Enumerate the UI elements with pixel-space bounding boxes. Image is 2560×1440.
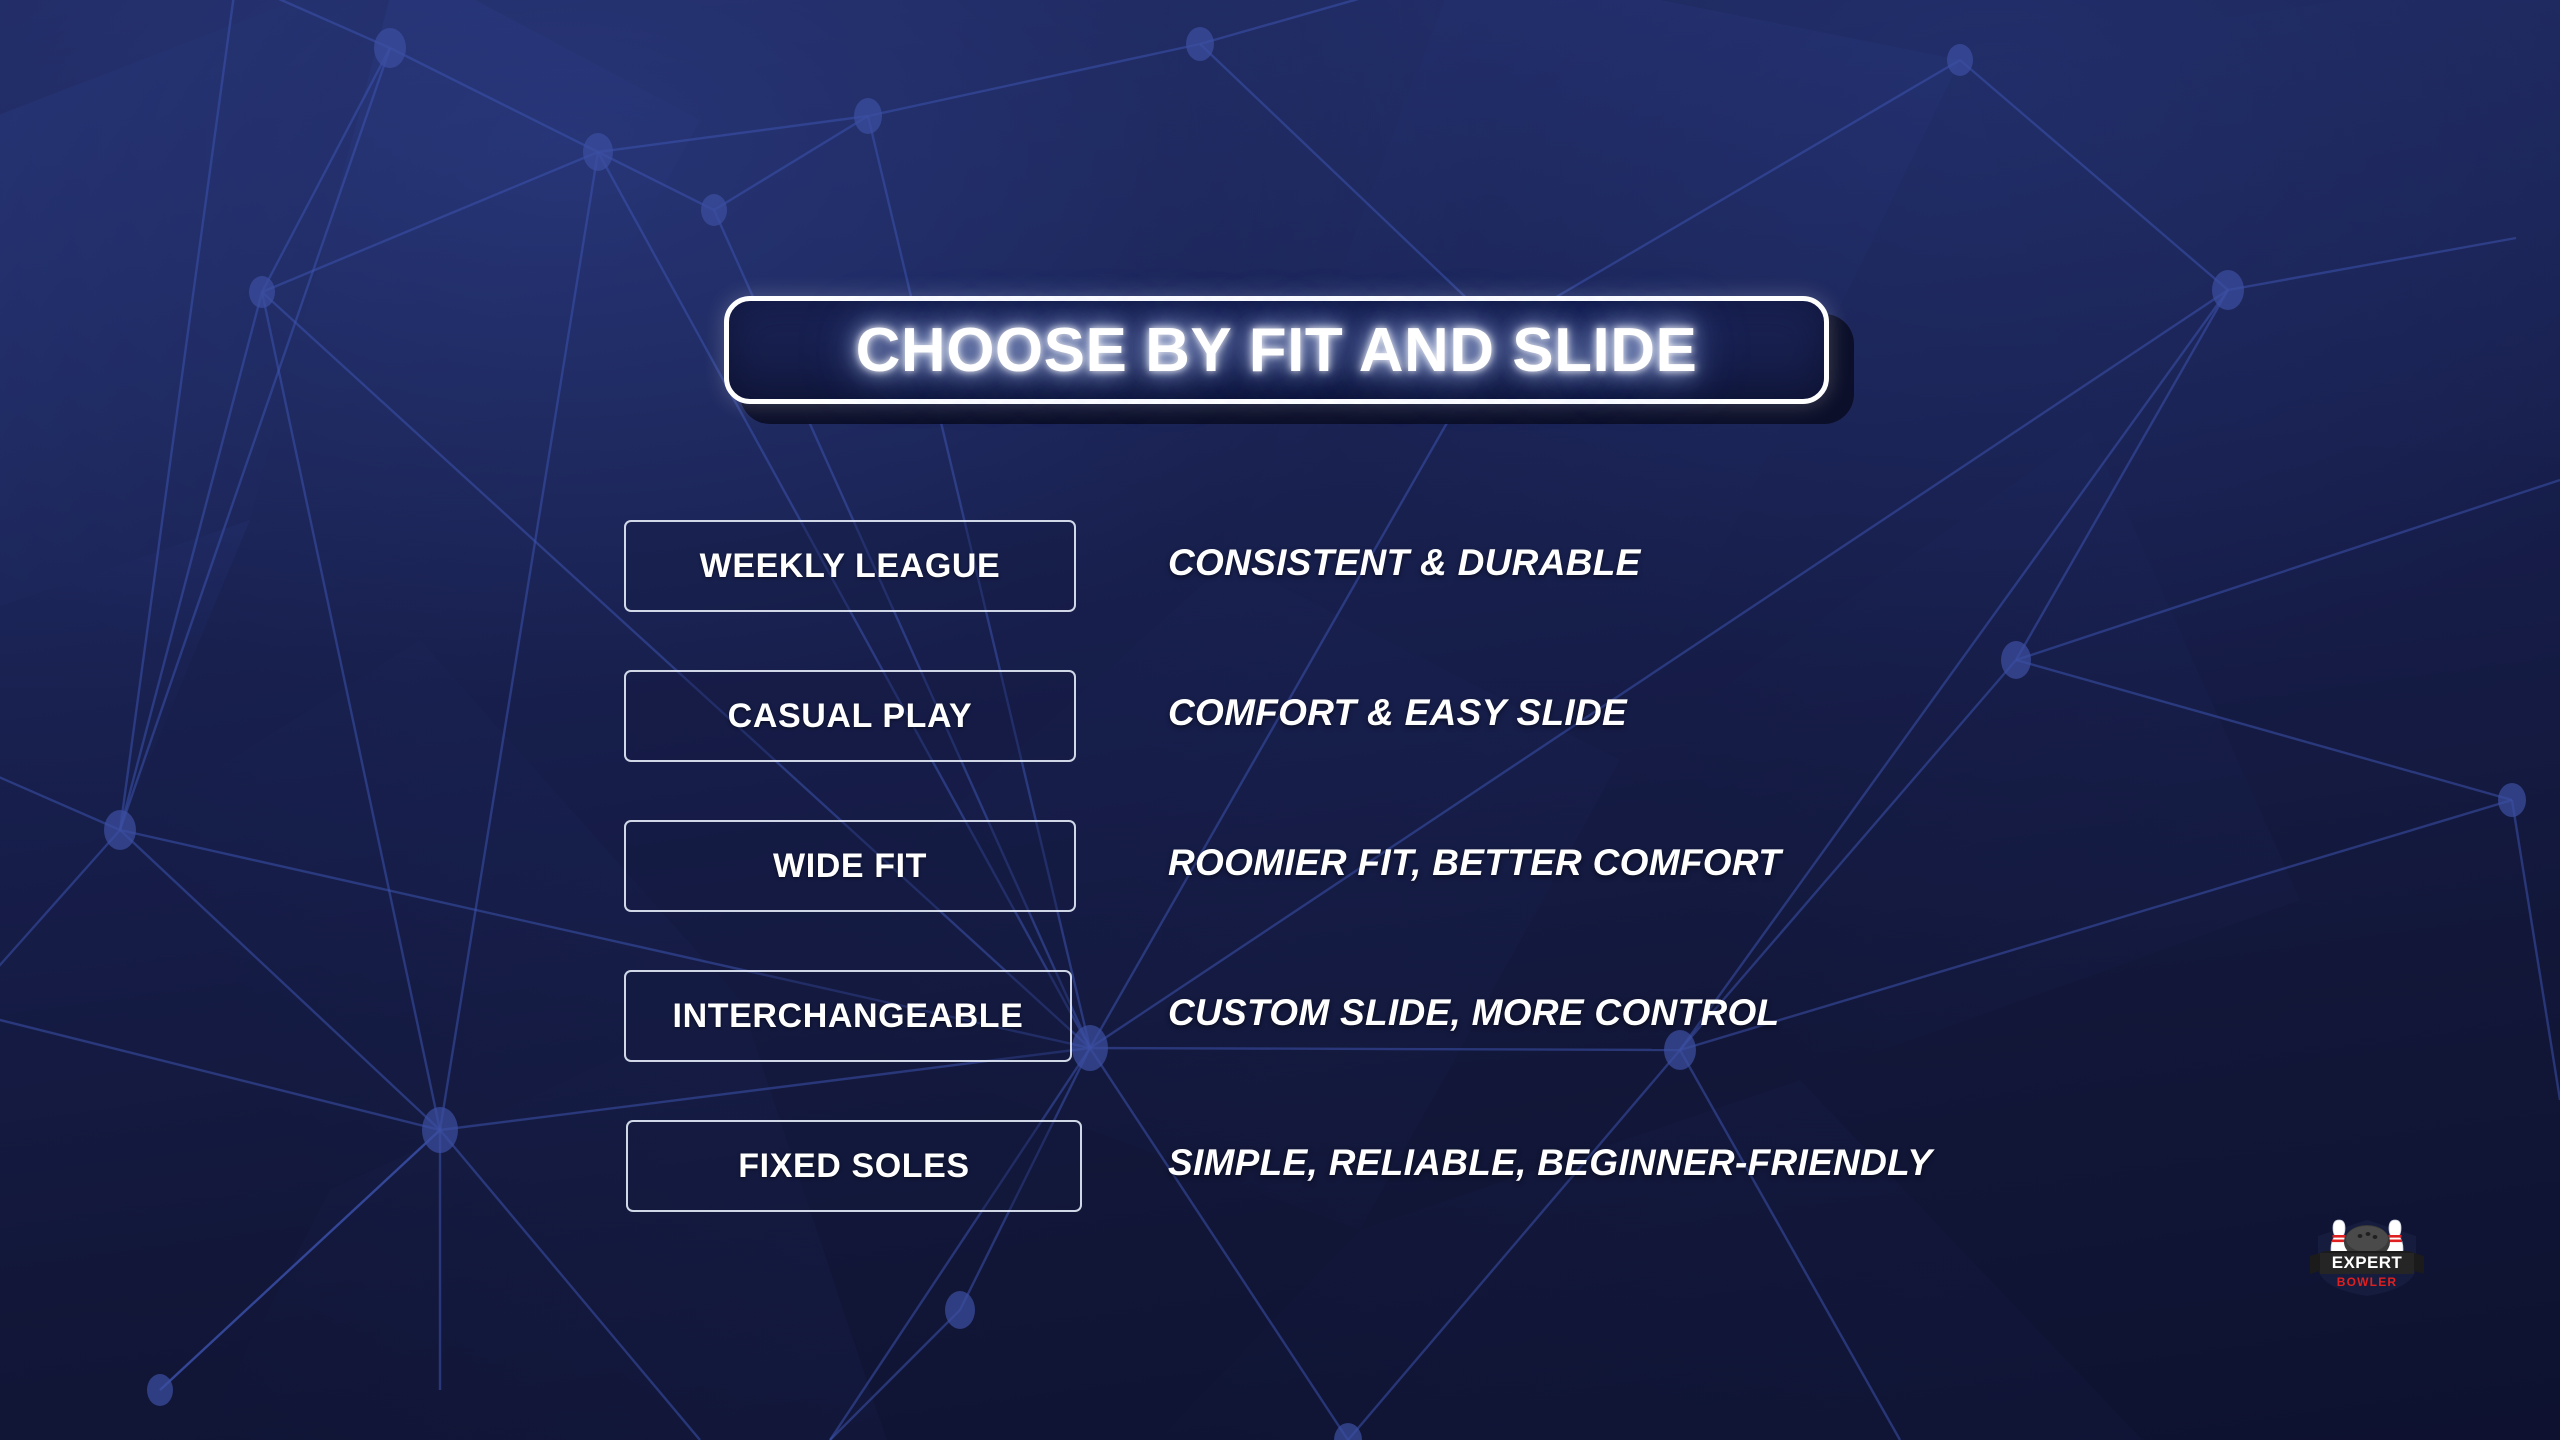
description-interchangeable: CUSTOM SLIDE, MORE CONTROL	[1168, 992, 1779, 1034]
chip-label: WIDE FIT	[773, 847, 927, 886]
chip-label: WEEKLY LEAGUE	[700, 547, 1001, 586]
description-casual-play: COMFORT & EASY SLIDE	[1168, 692, 1627, 734]
slide-title-banner: CHOOSE BY FIT AND SLIDE	[724, 296, 1844, 420]
list-item: INTERCHANGEABLE CUSTOM SLIDE, MORE CONTR…	[0, 970, 2560, 1068]
chip-interchangeable[interactable]: INTERCHANGEABLE	[624, 970, 1072, 1062]
feature-list: WEEKLY LEAGUE CONSISTENT & DURABLE CASUA…	[0, 520, 2560, 1270]
expert-bowler-logo: EXPERT BOWLER	[2308, 1206, 2426, 1298]
chip-wide-fit[interactable]: WIDE FIT	[624, 820, 1076, 912]
list-item: CASUAL PLAY COMFORT & EASY SLIDE	[0, 670, 2560, 768]
list-item: FIXED SOLES SIMPLE, RELIABLE, BEGINNER-F…	[0, 1120, 2560, 1218]
chip-weekly-league[interactable]: WEEKLY LEAGUE	[624, 520, 1076, 612]
list-item: WIDE FIT ROOMIER FIT, BETTER COMFORT	[0, 820, 2560, 918]
description-weekly-league: CONSISTENT & DURABLE	[1168, 542, 1641, 584]
chip-fixed-soles[interactable]: FIXED SOLES	[626, 1120, 1082, 1212]
page-title: CHOOSE BY FIT AND SLIDE	[856, 315, 1698, 386]
slide-canvas: CHOOSE BY FIT AND SLIDE WEEKLY LEAGUE CO…	[0, 0, 2560, 1440]
logo-secondary-text: BOWLER	[2337, 1275, 2398, 1289]
chip-label: CASUAL PLAY	[728, 697, 973, 736]
chip-casual-play[interactable]: CASUAL PLAY	[624, 670, 1076, 762]
chip-label: FIXED SOLES	[738, 1147, 969, 1186]
logo-primary-text: EXPERT	[2332, 1253, 2403, 1272]
description-fixed-soles: SIMPLE, RELIABLE, BEGINNER-FRIENDLY	[1168, 1142, 1932, 1184]
title-banner-frame: CHOOSE BY FIT AND SLIDE	[724, 296, 1829, 404]
description-wide-fit: ROOMIER FIT, BETTER COMFORT	[1168, 842, 1781, 884]
chip-label: INTERCHANGEABLE	[673, 997, 1024, 1036]
list-item: WEEKLY LEAGUE CONSISTENT & DURABLE	[0, 520, 2560, 618]
